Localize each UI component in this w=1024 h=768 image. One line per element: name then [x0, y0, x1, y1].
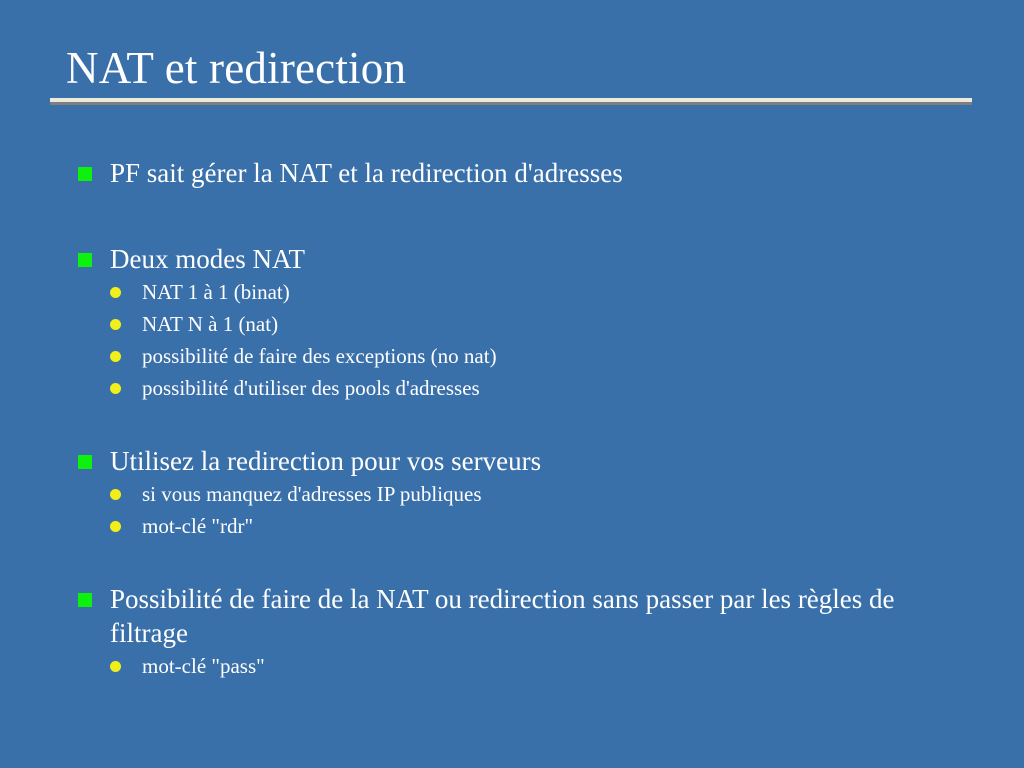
bullet-level1-item: Utilisez la redirection pour vos serveur…: [78, 444, 978, 478]
green-square-bullet-icon: [78, 455, 92, 469]
bullet-level2-label: mot-clé "pass": [142, 650, 978, 682]
bullet-level1-item: Deux modes NAT: [78, 242, 978, 276]
group-spacer: [78, 190, 978, 242]
bullet-group: Possibilité de faire de la NAT ou redire…: [78, 582, 978, 682]
bullet-level2-label: NAT N à 1 (nat): [142, 308, 978, 340]
green-square-bullet-icon: [78, 593, 92, 607]
slide-title-block: NAT et redirection: [50, 42, 972, 105]
bullet-level2-item: possibilité de faire des exceptions (no …: [78, 340, 978, 372]
bullet-level1-label: Deux modes NAT: [110, 242, 978, 276]
yellow-disc-bullet-icon: [110, 489, 121, 500]
bullet-level2-item: mot-clé "pass": [78, 650, 978, 682]
bullet-level1-label: PF sait gérer la NAT et la redirection d…: [110, 156, 978, 190]
bullet-level2-item: possibilité d'utiliser des pools d'adres…: [78, 372, 978, 404]
bullet-level1-item: Possibilité de faire de la NAT ou redire…: [78, 582, 978, 650]
bullet-level1-item: PF sait gérer la NAT et la redirection d…: [78, 156, 978, 190]
bullet-level2-label: si vous manquez d'adresses IP publiques: [142, 478, 978, 510]
group-spacer: [78, 542, 978, 582]
slide-body: PF sait gérer la NAT et la redirection d…: [78, 156, 978, 682]
yellow-disc-bullet-icon: [110, 319, 121, 330]
bullet-level2-label: possibilité d'utiliser des pools d'adres…: [142, 372, 978, 404]
bullet-level2-label: possibilité de faire des exceptions (no …: [142, 340, 978, 372]
bullet-level2-item: si vous manquez d'adresses IP publiques: [78, 478, 978, 510]
bullet-level2-item: NAT N à 1 (nat): [78, 308, 978, 340]
yellow-disc-bullet-icon: [110, 351, 121, 362]
page-title: NAT et redirection: [50, 42, 972, 94]
slide-canvas: NAT et redirection PF sait gérer la NAT …: [0, 0, 1024, 768]
bullet-level2-item: NAT 1 à 1 (binat): [78, 276, 978, 308]
group-spacer: [78, 404, 978, 444]
bullet-level2-label: mot-clé "rdr": [142, 510, 978, 542]
bullet-level2-label: NAT 1 à 1 (binat): [142, 276, 978, 308]
green-square-bullet-icon: [78, 167, 92, 181]
bullet-group: PF sait gérer la NAT et la redirection d…: [78, 156, 978, 190]
yellow-disc-bullet-icon: [110, 287, 121, 298]
bullet-level1-label: Utilisez la redirection pour vos serveur…: [110, 444, 978, 478]
green-square-bullet-icon: [78, 253, 92, 267]
yellow-disc-bullet-icon: [110, 521, 121, 532]
title-underline-rule: [50, 98, 972, 105]
bullet-level2-item: mot-clé "rdr": [78, 510, 978, 542]
yellow-disc-bullet-icon: [110, 661, 121, 672]
bullet-level1-label: Possibilité de faire de la NAT ou redire…: [110, 582, 978, 650]
yellow-disc-bullet-icon: [110, 383, 121, 394]
bullet-group: Utilisez la redirection pour vos serveur…: [78, 444, 978, 542]
bullet-group: Deux modes NAT NAT 1 à 1 (binat) NAT N à…: [78, 242, 978, 404]
